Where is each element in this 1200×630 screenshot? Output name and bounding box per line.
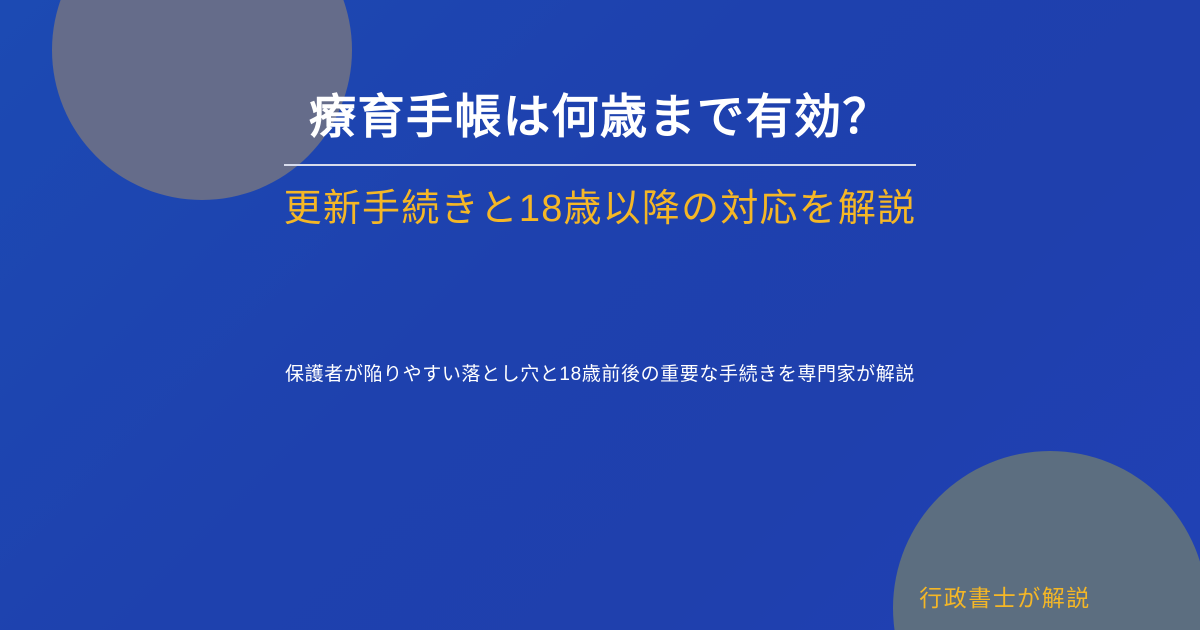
credit-badge: 行政書士が解説 [905, 582, 1105, 614]
lead-description: 保護者が陥りやすい落とし穴と18歳前後の重要な手続きを専門家が解説 [0, 360, 1200, 390]
title-block: 療育手帳は何歳まで有効？ 更新手続きと18歳以降の対応を解説 [0, 86, 1200, 234]
page-subtitle: 更新手続きと18歳以降の対応を解説 [284, 184, 917, 234]
card-content: 療育手帳は何歳まで有効？ 更新手続きと18歳以降の対応を解説 保護者が陥りやすい… [0, 0, 1200, 630]
subtitle-divider-wrap: 更新手続きと18歳以降の対応を解説 [284, 164, 917, 234]
og-image-card: 療育手帳は何歳まで有効？ 更新手続きと18歳以降の対応を解説 保護者が陥りやすい… [0, 0, 1200, 630]
page-title: 療育手帳は何歳まで有効？ [0, 86, 1200, 148]
